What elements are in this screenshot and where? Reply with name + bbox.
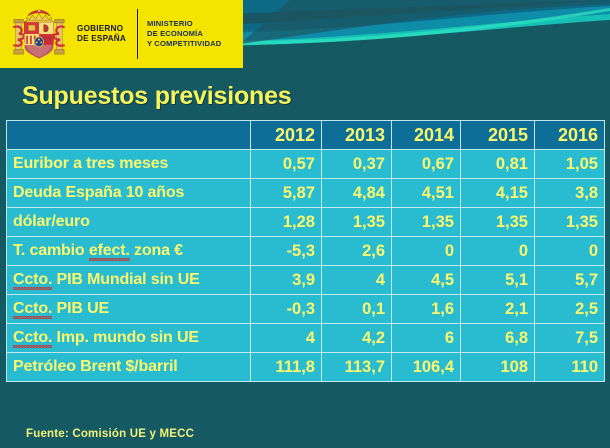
spellcheck-underline: Ccto. bbox=[13, 271, 52, 289]
cell-2016: 110 bbox=[535, 353, 605, 382]
table-row: dólar/euro1,281,351,351,351,35 bbox=[7, 208, 605, 237]
cell-2012: 3,9 bbox=[251, 266, 322, 295]
spellcheck-underline: Ccto. bbox=[13, 329, 52, 347]
row-label: Euribor a tres meses bbox=[7, 150, 251, 179]
cell-2016: 5,7 bbox=[535, 266, 605, 295]
cell-2012: 111,8 bbox=[251, 353, 322, 382]
cell-2012: 0,57 bbox=[251, 150, 322, 179]
column-header-2014: 2014 bbox=[392, 121, 461, 150]
column-header-2012: 2012 bbox=[251, 121, 322, 150]
cell-2015: 2,1 bbox=[461, 295, 535, 324]
cell-2013: 4,84 bbox=[322, 179, 392, 208]
cell-2015: 1,35 bbox=[461, 208, 535, 237]
cell-2016: 1,35 bbox=[535, 208, 605, 237]
row-label: Ccto. PIB UE bbox=[7, 295, 251, 324]
table-body: Euribor a tres meses0,570,370,670,811,05… bbox=[7, 150, 605, 382]
cell-2013: 2,6 bbox=[322, 237, 392, 266]
row-label: dólar/euro bbox=[7, 208, 251, 237]
cell-2013: 0,37 bbox=[322, 150, 392, 179]
cell-2014: 106,4 bbox=[392, 353, 461, 382]
table-header-row: 2012 2013 2014 2015 2016 bbox=[7, 121, 605, 150]
spellcheck-underline: Ccto. bbox=[13, 300, 52, 318]
cell-2012: -0,3 bbox=[251, 295, 322, 324]
page-title: Supuestos previsiones bbox=[22, 82, 292, 111]
table-row: Euribor a tres meses0,570,370,670,811,05 bbox=[7, 150, 605, 179]
source-note: Fuente: Comisión UE y MECC bbox=[26, 428, 194, 440]
cell-2016: 0 bbox=[535, 237, 605, 266]
column-header-2013: 2013 bbox=[322, 121, 392, 150]
cell-2015: 0 bbox=[461, 237, 535, 266]
cell-2014: 1,35 bbox=[392, 208, 461, 237]
cell-2016: 2,5 bbox=[535, 295, 605, 324]
spain-coat-of-arms-icon bbox=[11, 5, 67, 63]
cell-2013: 113,7 bbox=[322, 353, 392, 382]
cell-2012: -5,3 bbox=[251, 237, 322, 266]
table-row: Petróleo Brent $/barril111,8113,7106,410… bbox=[7, 353, 605, 382]
cell-2016: 1,05 bbox=[535, 150, 605, 179]
cell-2013: 0,1 bbox=[322, 295, 392, 324]
cell-2012: 5,87 bbox=[251, 179, 322, 208]
cell-2012: 4 bbox=[251, 324, 322, 353]
cell-2012: 1,28 bbox=[251, 208, 322, 237]
row-label: Ccto. Imp. mundo sin UE bbox=[7, 324, 251, 353]
table-row: Ccto. Imp. mundo sin UE44,266,87,5 bbox=[7, 324, 605, 353]
slide: GOBIERNO DE ESPAÑA MINISTERIO DE ECONOMÍ… bbox=[0, 0, 610, 448]
assumptions-table: 2012 2013 2014 2015 2016 Euribor a tres … bbox=[6, 120, 605, 382]
cell-2014: 6 bbox=[392, 324, 461, 353]
row-label: Petróleo Brent $/barril bbox=[7, 353, 251, 382]
row-label: Ccto. PIB Mundial sin UE bbox=[7, 266, 251, 295]
column-header-2016: 2016 bbox=[535, 121, 605, 150]
cell-2015: 6,8 bbox=[461, 324, 535, 353]
cell-2015: 108 bbox=[461, 353, 535, 382]
assumptions-table-wrapper: 2012 2013 2014 2015 2016 Euribor a tres … bbox=[6, 120, 604, 382]
cell-2016: 3,8 bbox=[535, 179, 605, 208]
cell-2014: 0 bbox=[392, 237, 461, 266]
table-corner-cell bbox=[7, 121, 251, 150]
government-logo-plate: GOBIERNO DE ESPAÑA MINISTERIO DE ECONOMÍ… bbox=[0, 0, 243, 68]
table-row: Ccto. PIB Mundial sin UE3,944,55,15,7 bbox=[7, 266, 605, 295]
cell-2016: 7,5 bbox=[535, 324, 605, 353]
table-row: Deuda España 10 años5,874,844,514,153,8 bbox=[7, 179, 605, 208]
cell-2015: 0,81 bbox=[461, 150, 535, 179]
cell-2013: 4 bbox=[322, 266, 392, 295]
cell-2014: 4,5 bbox=[392, 266, 461, 295]
cell-2014: 1,6 bbox=[392, 295, 461, 324]
gobierno-de-espana-label: GOBIERNO DE ESPAÑA bbox=[77, 24, 126, 45]
table-head: 2012 2013 2014 2015 2016 bbox=[7, 121, 605, 150]
cell-2015: 4,15 bbox=[461, 179, 535, 208]
cell-2014: 4,51 bbox=[392, 179, 461, 208]
logo-divider bbox=[137, 9, 138, 59]
spellcheck-underline: efect. bbox=[89, 242, 130, 260]
ministerio-label: MINISTERIO DE ECONOMÍA Y COMPETITIVIDAD bbox=[147, 19, 221, 50]
row-label: T. cambio efect. zona € bbox=[7, 237, 251, 266]
cell-2013: 4,2 bbox=[322, 324, 392, 353]
column-header-2015: 2015 bbox=[461, 121, 535, 150]
cell-2015: 5,1 bbox=[461, 266, 535, 295]
table-row: Ccto. PIB UE-0,30,11,62,12,5 bbox=[7, 295, 605, 324]
table-row: T. cambio efect. zona €-5,32,6000 bbox=[7, 237, 605, 266]
cell-2013: 1,35 bbox=[322, 208, 392, 237]
row-label: Deuda España 10 años bbox=[7, 179, 251, 208]
cell-2014: 0,67 bbox=[392, 150, 461, 179]
